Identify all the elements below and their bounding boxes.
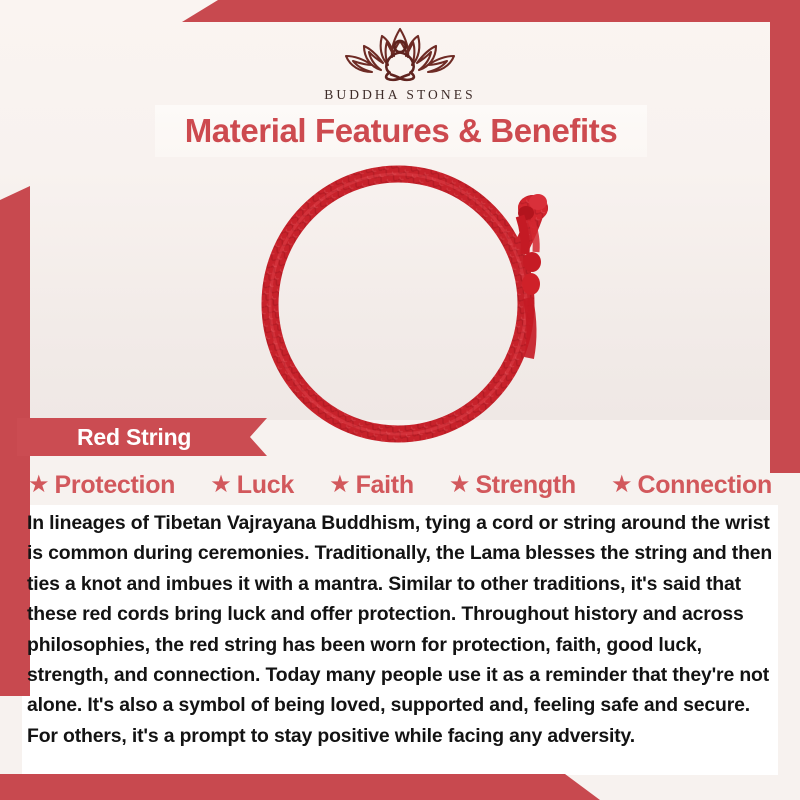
brand-logo: BUDDHA STONES [0,22,800,103]
benefit-label: Luck [237,471,294,500]
benefit-label: Protection [55,471,176,500]
star-icon: ★ [449,473,471,497]
star-icon: ★ [329,473,351,497]
benefit-item-luck: ★ Luck [210,471,294,500]
lotus-meditation-icon [325,22,475,84]
benefit-label: Strength [475,471,575,500]
brand-name: BUDDHA STONES [324,87,475,103]
red-string-bracelet-image [248,158,578,446]
benefit-label: Connection [637,471,772,500]
benefit-item-protection: ★ Protection [28,471,175,500]
benefit-label: Faith [356,471,414,500]
benefits-row: ★ Protection ★ Luck ★ Faith ★ Strength ★… [28,466,772,504]
page-title: Material Features & Benefits [185,112,618,150]
product-name-label: Red String [77,424,191,451]
product-name-ribbon: Red String [17,418,267,456]
star-icon: ★ [611,473,633,497]
benefit-item-faith: ★ Faith [329,471,414,500]
star-icon: ★ [28,473,50,497]
benefit-item-connection: ★ Connection [611,471,772,500]
infographic-poster: BUDDHA STONES Material Features & Benefi… [0,0,800,800]
star-icon: ★ [210,473,232,497]
description-text: In lineages of Tibetan Vajrayana Buddhis… [27,508,775,751]
benefit-item-strength: ★ Strength [449,471,576,500]
title-banner: Material Features & Benefits [155,105,647,157]
frame-bar-right-lower [770,243,800,473]
